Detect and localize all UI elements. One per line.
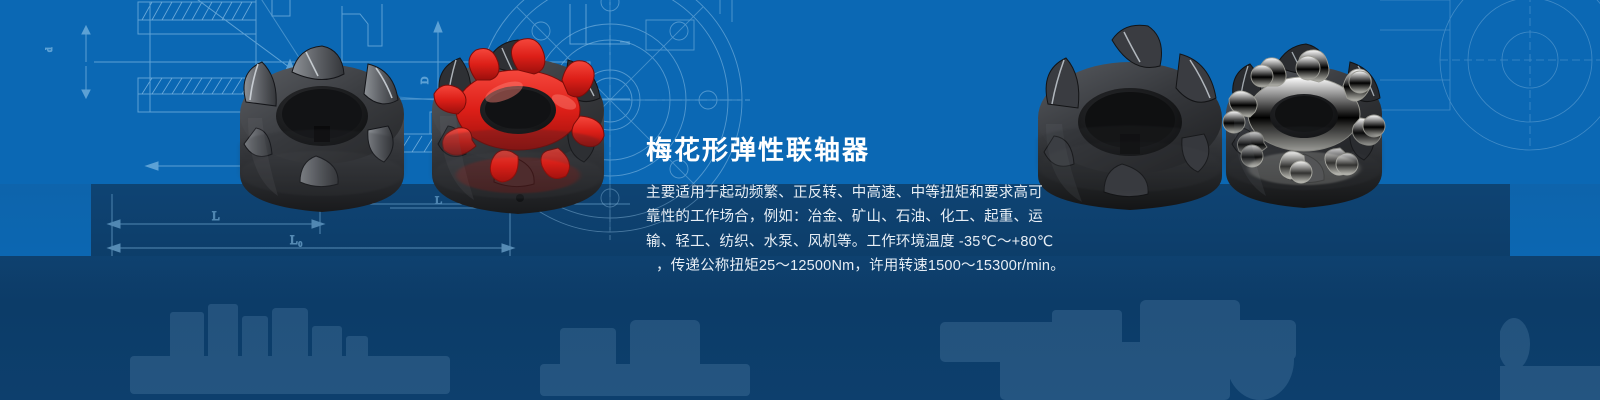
blueprint-label-length-L0: L₀ (290, 232, 302, 247)
machinery-silhouette-left (130, 300, 450, 400)
blueprint-drawing-right (1380, 0, 1600, 190)
product-banner: d H L (0, 0, 1600, 400)
machinery-silhouette-edge (1500, 300, 1600, 400)
page-title: 梅花形弹性联轴器 (646, 136, 1066, 165)
banner-copy: 梅花形弹性联轴器 主要适用于起动频繁、正反转、中高速、中等扭矩和要求高可 靠性的… (646, 136, 1066, 279)
description-line: 输、轻工、纺织、水泵、风机等。工作环境温度 -35℃～+80℃ (646, 230, 1066, 255)
description-line: 主要适用于起动频繁、正反转、中高速、中等扭矩和要求高可 (646, 181, 1066, 206)
product-reflection-left (218, 125, 618, 222)
description-line: 靠性的工作场合，例如：冶金、矿山、石油、化工、起重、运 (646, 205, 1066, 230)
description-line: ，传递公称扭矩25～12500Nm，许用转速1500～15300r/min。 (646, 254, 1066, 279)
product-reflection-right (1020, 123, 1390, 218)
blueprint-label-bore: d (44, 47, 54, 52)
description-block: 主要适用于起动频繁、正反转、中高速、中等扭矩和要求高可 靠性的工作场合，例如：冶… (646, 181, 1066, 279)
machinery-silhouette-mid (540, 320, 750, 400)
machinery-silhouette-right (940, 300, 1320, 400)
